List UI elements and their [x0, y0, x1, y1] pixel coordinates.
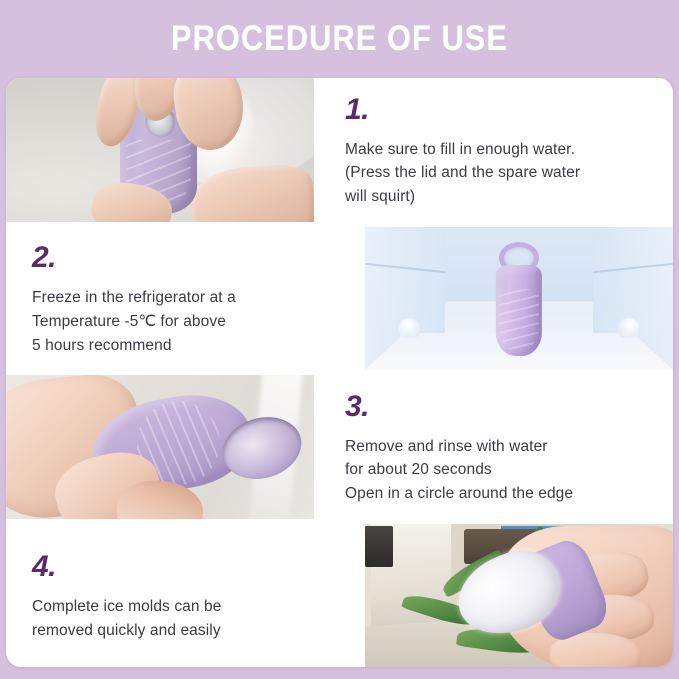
shelf-clip-right-shape	[618, 318, 640, 338]
step-lines-1: Make sure to fill in enough water. (Pres…	[345, 138, 653, 209]
step-row-3: 3. Remove and rinse with water for about…	[6, 375, 673, 519]
step-text-1: 1. Make sure to fill in enough water. (P…	[319, 78, 673, 222]
step-line: Open in a circle around the edge	[345, 482, 653, 506]
photo-freeze-in-refrigerator-art	[365, 227, 673, 371]
step-lines-3: Remove and rinse with water for about 20…	[345, 435, 653, 506]
photo-freeze-in-refrigerator	[365, 227, 673, 371]
step-number-2: 2.	[32, 243, 340, 273]
step-number-3: 3.	[345, 392, 653, 422]
step-line: Remove and rinse with water	[345, 435, 653, 459]
step-text-3: 3. Remove and rinse with water for about…	[319, 375, 673, 519]
step-row-1: 1. Make sure to fill in enough water. (P…	[6, 78, 673, 222]
photo-fill-with-water	[6, 78, 314, 222]
step-text-4: 4. Complete ice molds can be removed qui…	[6, 524, 360, 668]
photo-remove-ice-mold	[365, 524, 673, 668]
step-line: removed quickly and easily	[32, 619, 340, 643]
page-title: PROCEDURE OF USE	[41, 0, 639, 78]
procedure-steps-card: 1. Make sure to fill in enough water. (P…	[6, 78, 673, 667]
step-line: 5 hours recommend	[32, 334, 340, 358]
step-line: Temperature -5℃ for above	[32, 310, 340, 334]
step-line: Freeze in the refrigerator at a	[32, 286, 340, 310]
photo-rinse-with-water-art	[6, 375, 314, 519]
step-line: for about 20 seconds	[345, 458, 653, 482]
window-frame-shape	[365, 526, 393, 566]
step-line: Make sure to fill in enough water.	[345, 138, 653, 162]
step-line: will squirt)	[345, 185, 653, 209]
photo-fill-with-water-art	[6, 78, 314, 222]
ice-mold-shape	[496, 265, 542, 355]
step-line: (Press the lid and the spare water	[345, 161, 653, 185]
step-number-4: 4.	[32, 552, 340, 582]
step-number-1: 1.	[345, 95, 653, 125]
step-text-2: 2. Freeze in the refrigerator at a Tempe…	[6, 227, 360, 371]
step-row-4: 4. Complete ice molds can be removed qui…	[6, 524, 673, 668]
photo-rinse-with-water	[6, 375, 314, 519]
step-lines-4: Complete ice molds can be removed quickl…	[32, 595, 340, 642]
photo-remove-ice-mold-art	[365, 524, 673, 668]
step-row-2: 2. Freeze in the refrigerator at a Tempe…	[6, 227, 673, 371]
shelf-clip-left-shape	[399, 318, 421, 338]
step-line: Complete ice molds can be	[32, 595, 340, 619]
step-lines-2: Freeze in the refrigerator at a Temperat…	[32, 286, 340, 357]
